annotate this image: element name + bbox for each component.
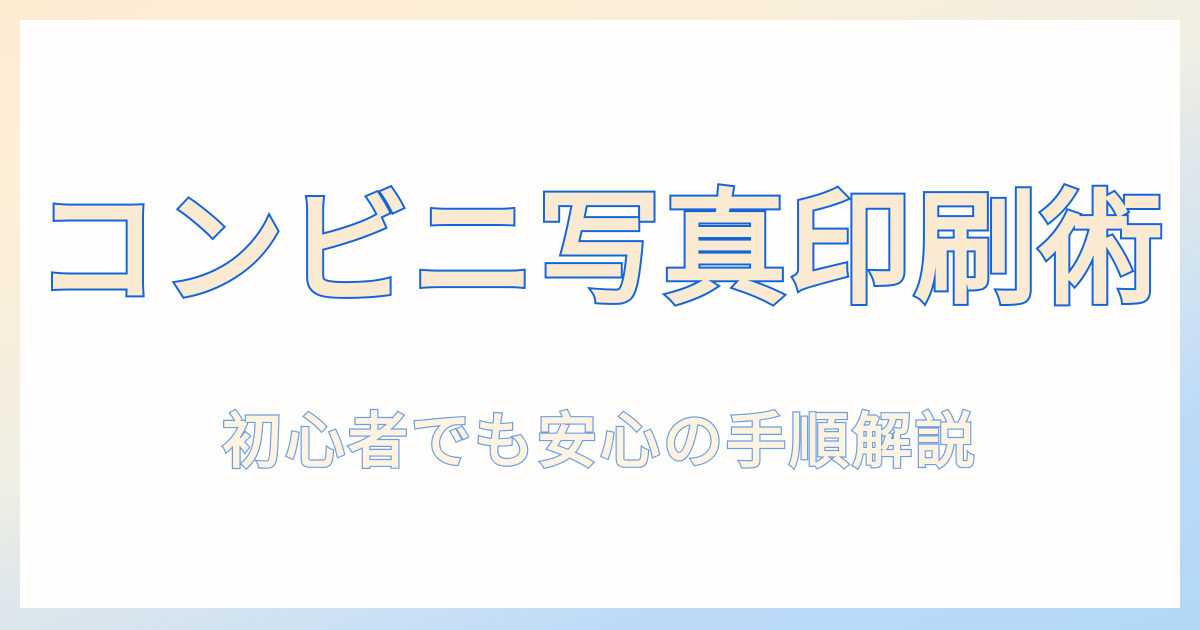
og-card: コンビニ写真印刷術 初心者でも安心の手順解説 — [0, 0, 1200, 630]
headline-container: コンビニ写真印刷術 — [20, 188, 1180, 312]
content-panel: コンビニ写真印刷術 初心者でも安心の手順解説 — [20, 20, 1180, 608]
page-subtitle: 初心者でも安心の手順解説 — [222, 412, 978, 472]
page-title: コンビニ写真印刷術 — [35, 188, 1164, 312]
subheadline-container: 初心者でも安心の手順解説 — [20, 412, 1180, 472]
